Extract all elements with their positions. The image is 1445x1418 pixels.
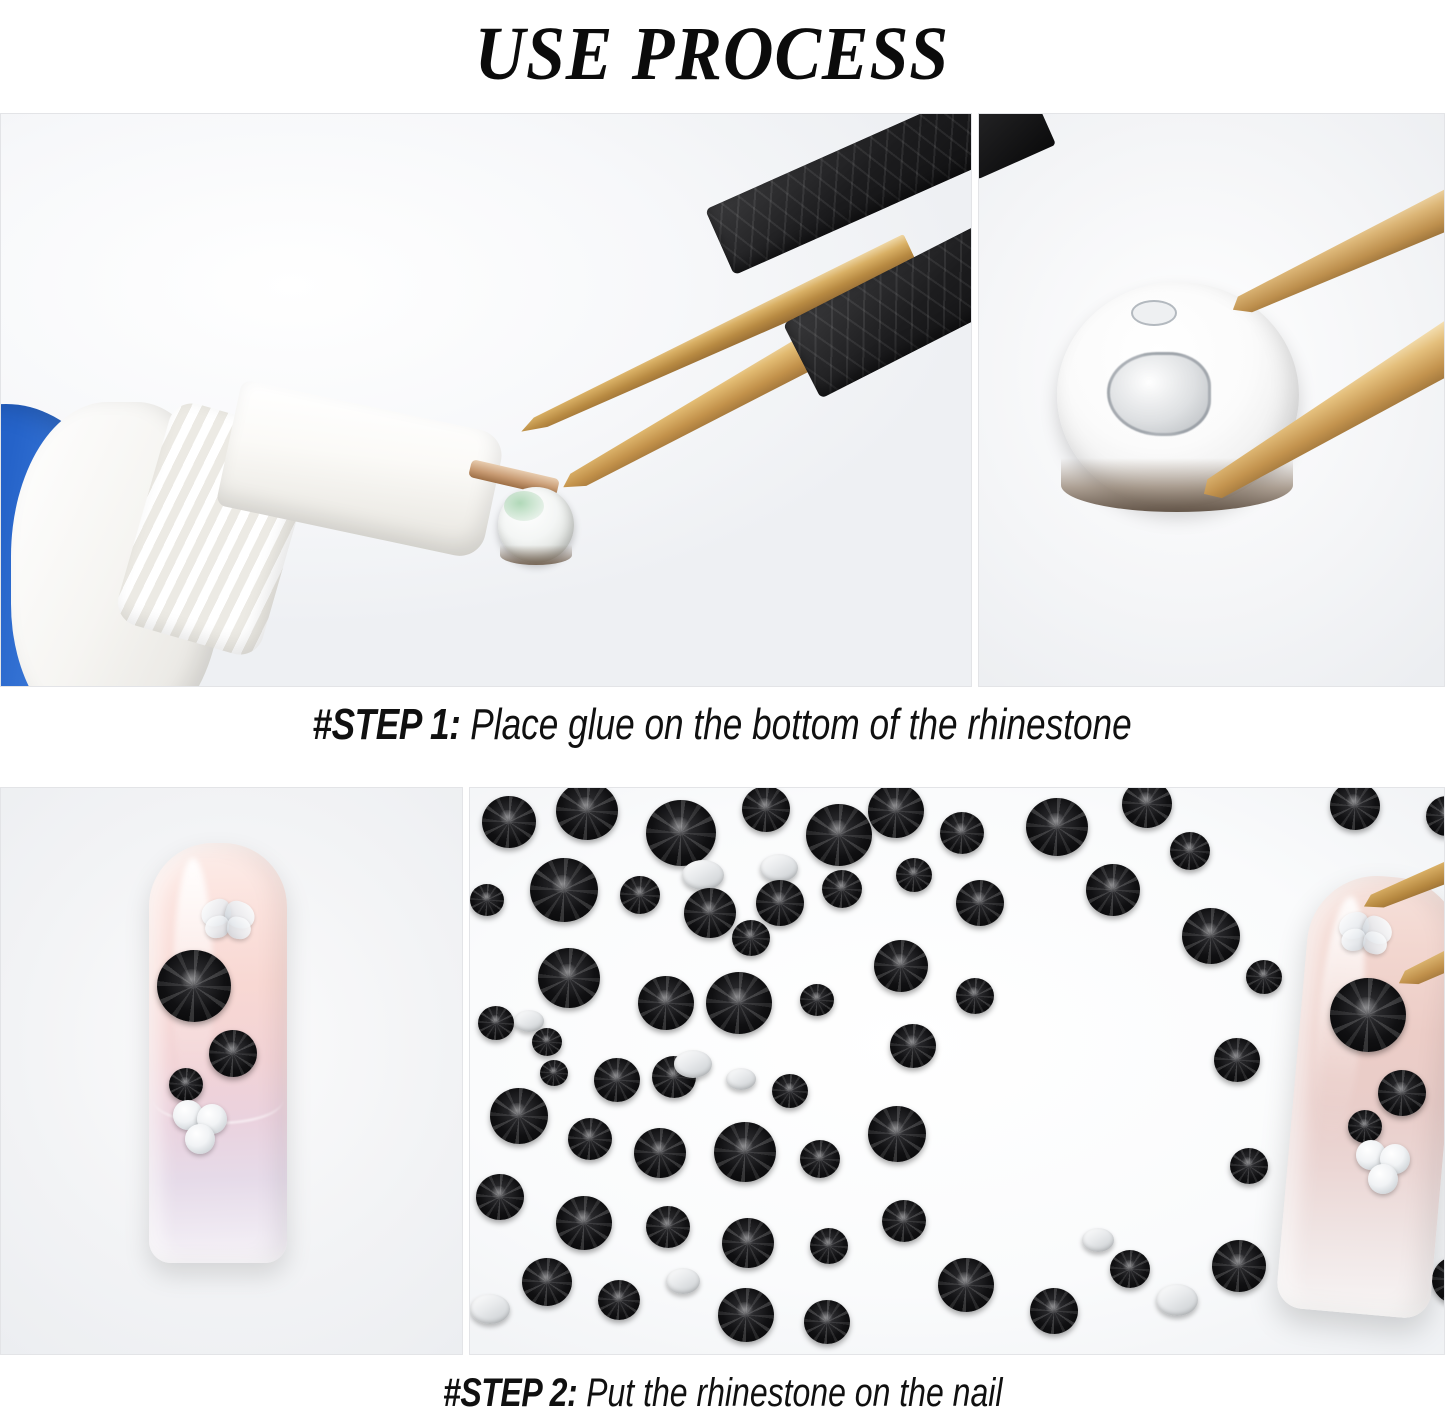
scattered-rhinestone: [956, 880, 1004, 926]
scattered-rhinestone: [1110, 1250, 1150, 1288]
scattered-rhinestone: [476, 1174, 524, 1220]
scattered-rhinestone: [1086, 864, 1140, 916]
black-rhinestone-large-icon: [1330, 978, 1406, 1052]
step-2-caption: #STEP 2: Put the rhinestone on the nail: [0, 1368, 1445, 1418]
scattered-rhinestone: [732, 920, 770, 956]
scattered-rhinestone: [646, 800, 716, 866]
scattered-rhinestone-foil-back: [760, 854, 798, 882]
scattered-rhinestone: [940, 812, 984, 854]
black-rhinestone-medium-icon: [1378, 1070, 1426, 1116]
step-1-text: Place glue on the bottom of the rhinesto…: [461, 700, 1132, 749]
scattered-rhinestone: [634, 1128, 686, 1178]
scattered-rhinestone: [1182, 908, 1240, 964]
clear-cluster-charm-icon: [173, 1100, 231, 1156]
scattered-rhinestone: [896, 858, 932, 892]
scattered-rhinestone: [742, 787, 790, 832]
scattered-rhinestone: [1214, 1038, 1260, 1082]
scattered-rhinestone: [882, 1200, 926, 1242]
scattered-rhinestone: [714, 1122, 776, 1182]
scattered-rhinestone: [568, 1118, 612, 1160]
scattered-rhinestone: [874, 940, 928, 992]
step-2-image-row: [0, 787, 1445, 1355]
scattered-rhinestone: [806, 804, 872, 866]
step-1-label: #STEP 1:: [313, 700, 461, 749]
scattered-rhinestone-foil-back: [470, 1294, 510, 1324]
page-header: USE PROCESS: [0, 0, 1445, 108]
scattered-rhinestone: [718, 1288, 774, 1342]
scattered-rhinestone: [638, 976, 694, 1030]
scattered-rhinestone: [868, 1106, 926, 1162]
scattered-rhinestone: [1030, 1288, 1078, 1334]
decorated-nail-photo: [0, 787, 463, 1355]
black-rhinestone-medium-icon: [209, 1030, 257, 1077]
scattered-rhinestone-foil-back: [674, 1050, 712, 1078]
scattered-rhinestone: [490, 1088, 548, 1144]
rhinestone-placement-photo: [469, 787, 1445, 1355]
butterfly-charm-icon: [201, 900, 255, 942]
scattered-rhinestone: [756, 880, 804, 926]
scattered-rhinestone-foil-back: [682, 860, 724, 890]
scattered-rhinestone: [890, 1024, 936, 1068]
scattered-rhinestone: [1170, 832, 1210, 870]
scattered-rhinestone: [804, 1300, 850, 1344]
scattered-rhinestone: [938, 1258, 994, 1312]
glue-drop-icon: [1107, 352, 1211, 436]
scattered-rhinestone: [538, 948, 600, 1008]
scattered-rhinestone: [470, 884, 504, 916]
scattered-rhinestone: [598, 1280, 640, 1320]
scattered-rhinestone: [1246, 960, 1282, 994]
rhinestone-closeup-photo: [978, 113, 1445, 687]
black-rhinestone-large-icon: [157, 950, 231, 1022]
scattered-rhinestone: [800, 984, 834, 1016]
step-2-label: #STEP 2:: [443, 1371, 577, 1415]
step-1-image-row: [0, 113, 1445, 687]
scattered-rhinestone-foil-back: [1082, 1228, 1114, 1252]
scattered-rhinestone: [722, 1218, 774, 1268]
scattered-rhinestone-foil-back: [726, 1068, 756, 1090]
page-title: USE PROCESS: [474, 16, 949, 92]
step-1-caption: #STEP 1: Place glue on the bottom of the…: [0, 697, 1445, 759]
scattered-rhinestone: [1026, 798, 1088, 856]
clear-cluster-charm-icon: [1356, 1140, 1414, 1196]
scattered-rhinestone: [646, 1206, 690, 1248]
scattered-rhinestone-foil-back: [666, 1268, 700, 1294]
scattered-rhinestone: [594, 1058, 640, 1102]
black-rhinestone-small-icon: [1348, 1110, 1382, 1143]
rhinestone-with-glue-icon: [498, 487, 574, 563]
scattered-rhinestone: [800, 1140, 840, 1178]
scattered-rhinestone: [478, 1006, 514, 1040]
scattered-rhinestone: [540, 1060, 568, 1086]
scattered-rhinestone: [706, 972, 772, 1034]
scattered-rhinestone: [1230, 1148, 1268, 1184]
scattered-rhinestone: [810, 1228, 848, 1264]
butterfly-charm-icon: [1336, 911, 1394, 958]
scattered-rhinestone: [772, 1074, 808, 1108]
glue-bubble-icon: [1131, 300, 1177, 326]
scattered-rhinestone: [822, 870, 862, 908]
scattered-rhinestone: [482, 796, 536, 848]
glue-application-photo: [0, 113, 972, 687]
scattered-rhinestone: [620, 876, 660, 914]
scattered-rhinestone: [556, 1196, 612, 1250]
scattered-rhinestone: [530, 858, 598, 922]
step-2-text: Put the rhinestone on the nail: [577, 1371, 1002, 1415]
scattered-rhinestone: [684, 888, 736, 938]
scattered-rhinestone: [532, 1028, 562, 1056]
scattered-rhinestone: [1212, 1240, 1266, 1292]
scattered-rhinestone: [956, 978, 994, 1014]
black-rhinestone-small-icon: [169, 1068, 203, 1101]
scattered-rhinestone-foil-back: [1156, 1284, 1198, 1316]
scattered-rhinestone: [522, 1258, 572, 1306]
